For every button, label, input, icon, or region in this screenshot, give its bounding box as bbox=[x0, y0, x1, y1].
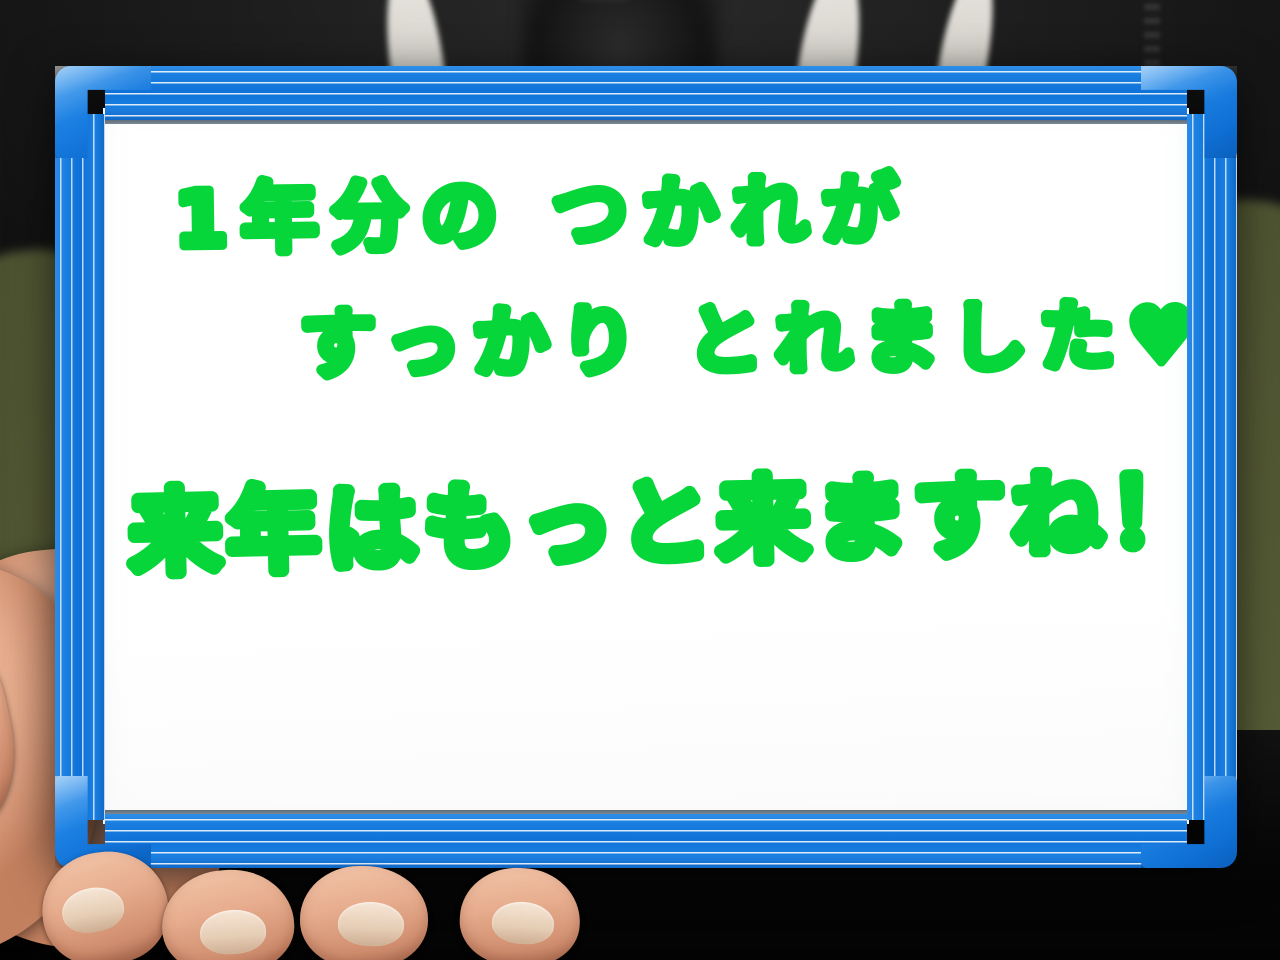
whiteboard[interactable]: 1年分の つかれが すっかり とれました♥ 来年はもっと来ますね！ bbox=[55, 66, 1237, 868]
frame-seam-bottom bbox=[105, 810, 1187, 814]
photo-scene: 1年分の つかれが すっかり とれました♥ 来年はもっと来ますね！ bbox=[0, 0, 1280, 960]
frame-seam-top bbox=[105, 120, 1187, 124]
whiteboard-surface bbox=[103, 108, 1189, 824]
frame-rail-bottom bbox=[105, 814, 1187, 868]
frame-rail-top bbox=[105, 66, 1187, 120]
frame-rail-right bbox=[1187, 114, 1237, 820]
frame-rail-left bbox=[55, 114, 105, 820]
